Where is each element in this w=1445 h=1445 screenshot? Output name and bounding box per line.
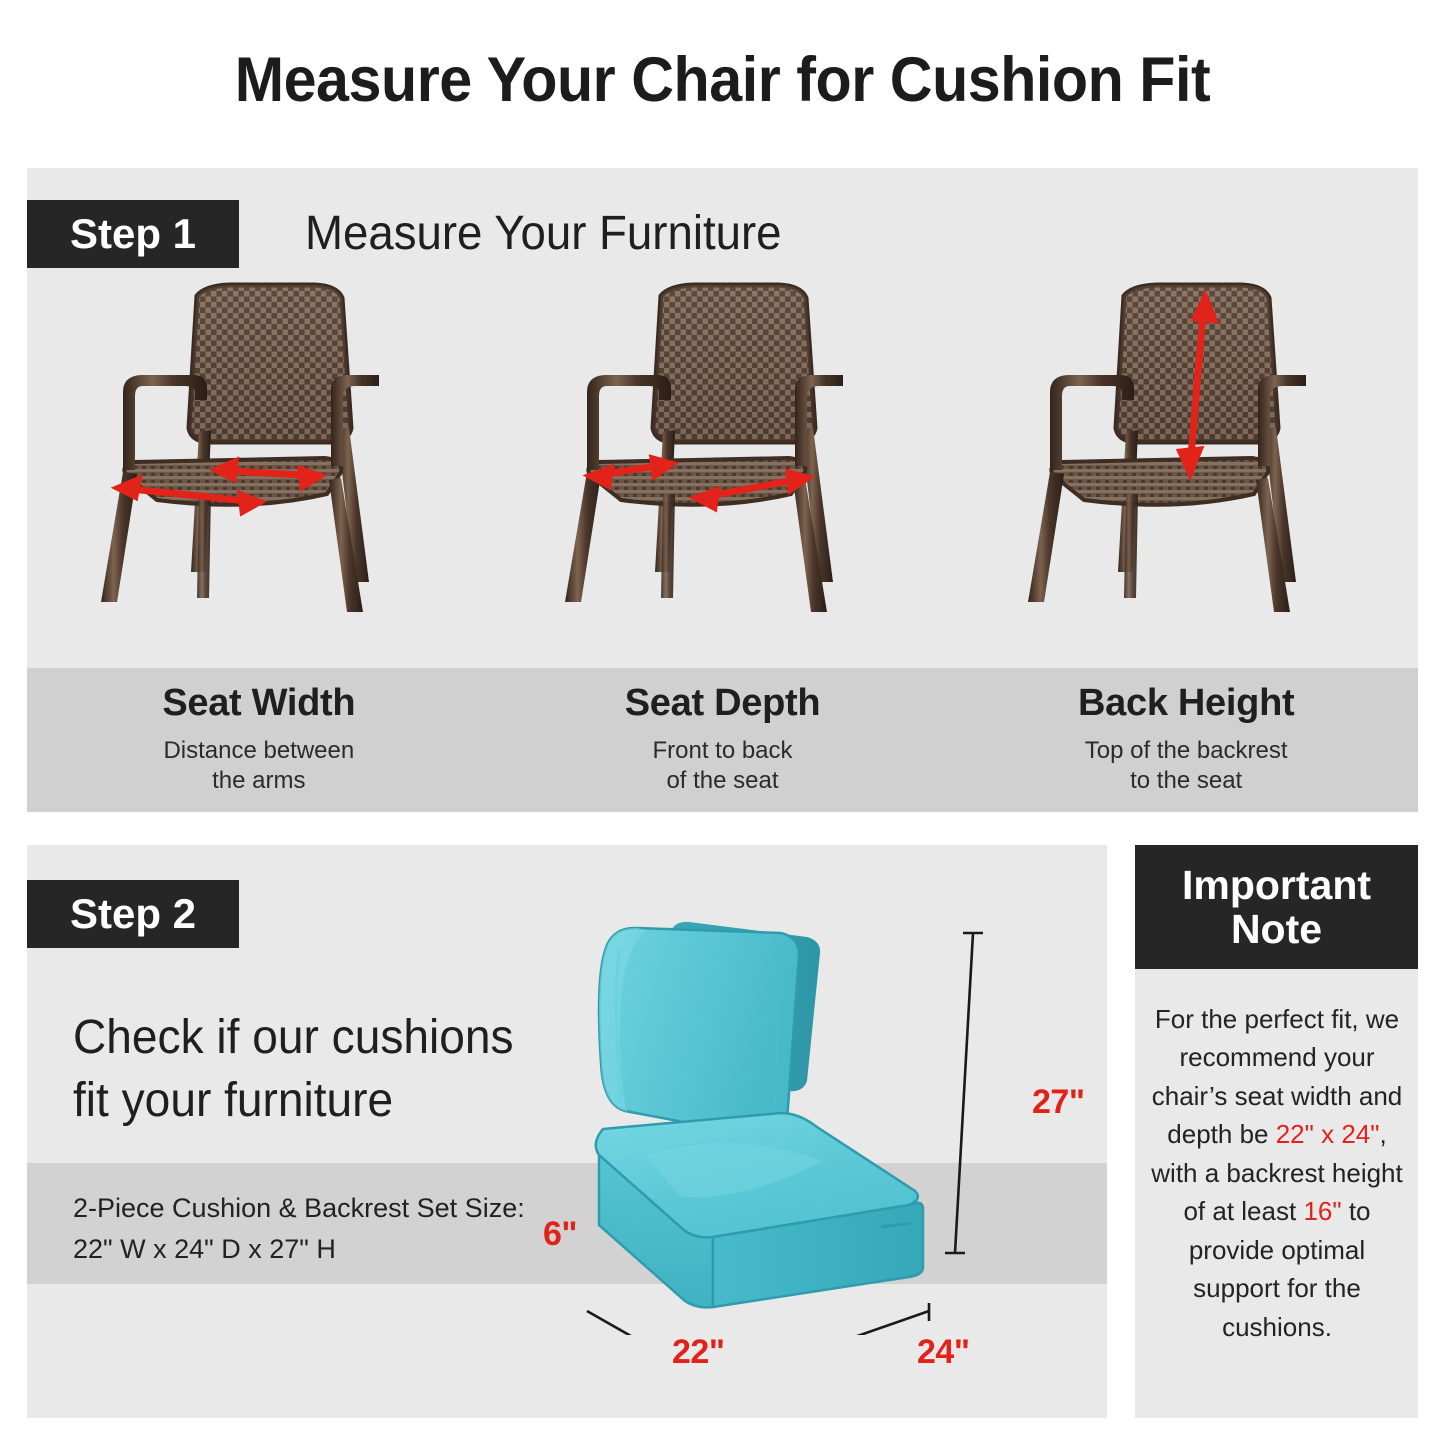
chair-back-height-icon <box>1006 280 1366 668</box>
caption-back-height: Back Height Top of the backrest to the s… <box>954 668 1418 812</box>
chair-cell-back-height <box>954 280 1418 668</box>
caption-subline: to the seat <box>1085 766 1288 796</box>
caption-title: Seat Width <box>162 682 355 726</box>
step2-heading: Check if our cushions fit your furniture <box>73 1006 668 1133</box>
cushion-illustration <box>585 915 1055 1335</box>
step1-heading: Measure Your Furniture <box>305 206 782 261</box>
caption-seat-depth: Seat Depth Front to back of the seat <box>491 668 955 812</box>
chair-seat-depth-icon <box>543 280 903 668</box>
chair-cell-seat-depth <box>491 280 955 668</box>
page-title: Measure Your Chair for Cushion Fit <box>43 44 1401 116</box>
dimension-label-depth: 24" <box>917 1333 969 1372</box>
caption-seat-width: Seat Width Distance between the arms <box>27 668 491 812</box>
note-highlight-seat-size: 22" x 24" <box>1276 1119 1380 1149</box>
chair-illustrations-row <box>27 280 1418 668</box>
note-header-line1: Important <box>1182 863 1371 907</box>
caption-title: Back Height <box>1078 682 1294 726</box>
caption-subline: Front to back <box>652 736 792 766</box>
caption-subline: Top of the backrest <box>1085 736 1288 766</box>
caption-title: Seat Depth <box>625 682 820 726</box>
note-highlight-backrest-height: 16" <box>1303 1196 1341 1226</box>
step2-badge: Step 2 <box>27 880 239 948</box>
step2-heading-line1: Check if our cushions <box>73 1006 668 1069</box>
important-note-header: Important Note <box>1135 845 1418 969</box>
chair-cell-seat-width <box>27 280 491 668</box>
note-header-line2: Note <box>1231 907 1322 951</box>
caption-subline: the arms <box>163 766 354 796</box>
caption-subline: of the seat <box>652 766 792 796</box>
dimension-label-thickness: 6" <box>543 1215 577 1254</box>
important-note-body: For the perfect fit, we recommend your c… <box>1144 1000 1410 1346</box>
caption-subtext: Distance between the arms <box>163 736 354 796</box>
dimension-label-height: 27" <box>1032 1083 1084 1122</box>
step1-badge: Step 1 <box>27 200 239 268</box>
infographic-page: Measure Your Chair for Cushion Fit Step … <box>0 0 1445 1445</box>
chair-seat-width-icon <box>79 280 439 668</box>
step1-caption-band: Seat Width Distance between the arms Sea… <box>27 668 1418 812</box>
caption-subtext: Top of the backrest to the seat <box>1085 736 1288 796</box>
dimension-label-width: 22" <box>672 1333 724 1372</box>
caption-subline: Distance between <box>163 736 354 766</box>
caption-subtext: Front to back of the seat <box>652 736 792 796</box>
cushion-set-icon <box>585 915 1055 1335</box>
step2-heading-line2: fit your furniture <box>73 1069 668 1132</box>
